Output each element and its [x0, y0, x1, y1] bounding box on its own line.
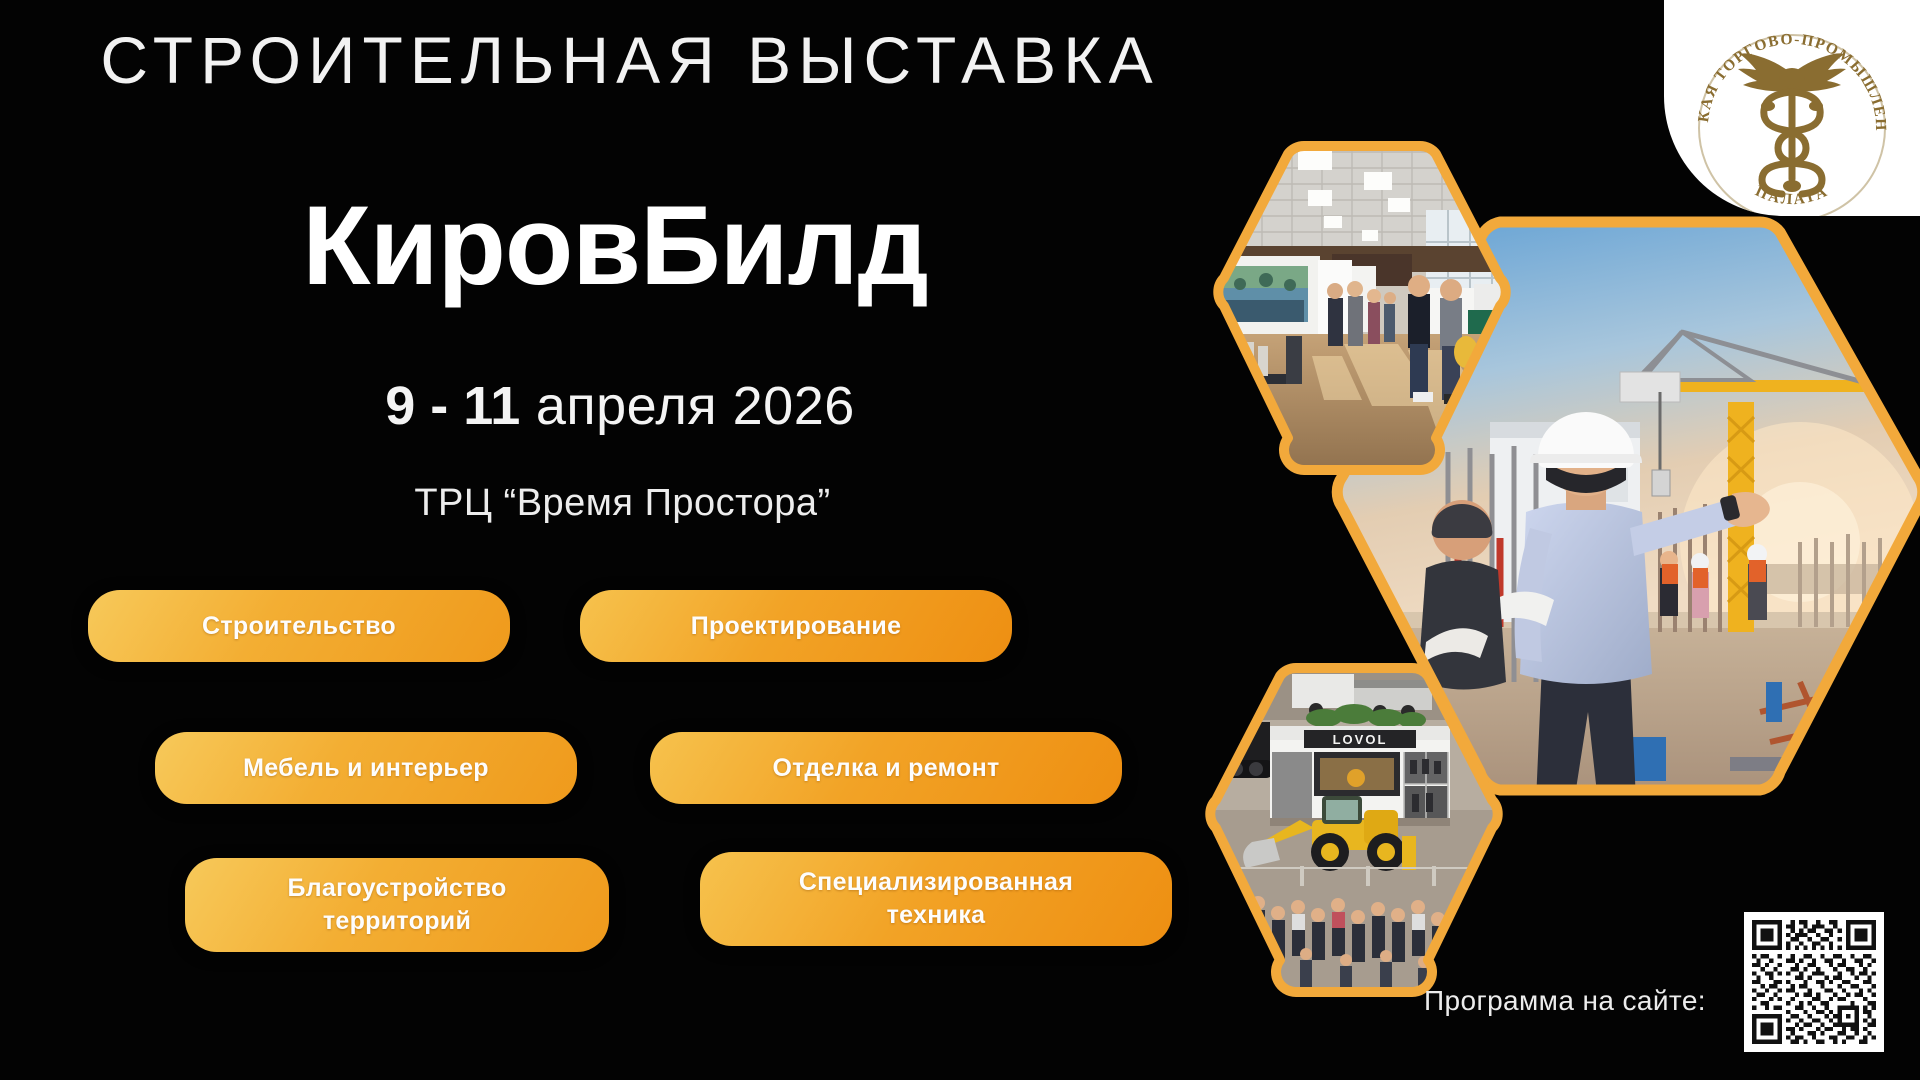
program-qr-code[interactable] [1744, 912, 1884, 1052]
photo-hex-machinery-expo: LOVOL [1204, 660, 1504, 1000]
photo-hex-expo-hall [1212, 138, 1512, 478]
svg-text:LOVOL: LOVOL [1333, 732, 1388, 747]
chamber-of-commerce-logo-panel: ВЯТСКАЯ ТОРГОВО-ПРОМЫШЛЕННАЯ ПАЛАТА [1664, 0, 1920, 216]
caduceus-icon [1738, 53, 1846, 194]
poster-canvas: СТРОИТЕЛЬНАЯ ВЫСТАВКА КировБилд 9 - 11 а… [0, 0, 1920, 1080]
chamber-logo-emblem: ВЯТСКАЯ ТОРГОВО-ПРОМЫШЛЕННАЯ ПАЛАТА [1664, 0, 1920, 216]
program-link-label: Программа на сайте: [1424, 985, 1706, 1017]
qr-code-graphic [1752, 920, 1876, 1044]
photo-collage: LOVOL [0, 0, 1920, 1080]
